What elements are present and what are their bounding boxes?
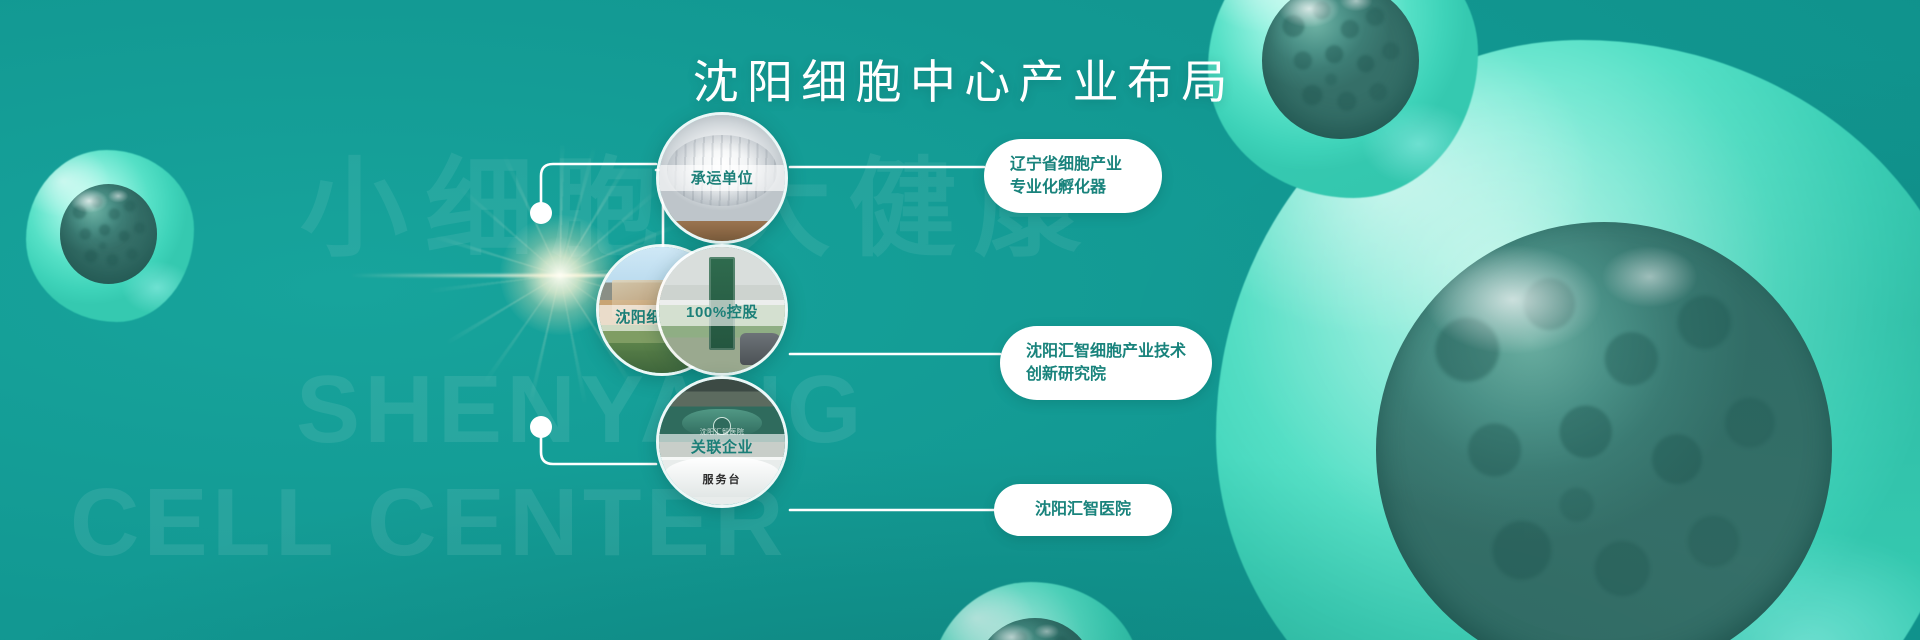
banner-root: 小细胞 大健康 SHENYANG CELL CENTER 沈阳细胞中心产业布局 — [0, 0, 1920, 640]
pill-label-incubator[interactable]: 辽宁省细胞产业 专业化孵化器 — [984, 139, 1162, 213]
node-carrier[interactable]: 承运单位 — [656, 112, 788, 244]
page-title: 沈阳细胞中心产业布局 — [0, 46, 1920, 112]
node-carrier-label: 承运单位 — [659, 165, 785, 191]
pill-label-institute[interactable]: 沈阳汇智细胞产业技术 创新研究院 — [1000, 326, 1212, 400]
node-holding[interactable]: 100%控股 — [656, 244, 788, 376]
node-affiliate-caption: 服务台 — [659, 471, 785, 487]
node-holding-label: 100%控股 — [659, 300, 785, 326]
node-affiliate[interactable]: 沈阳汇智医院 关联企业 服务台 — [656, 376, 788, 508]
node-affiliate-label: 关联企业 — [659, 434, 785, 460]
pill-label-hospital[interactable]: 沈阳汇智医院 — [994, 484, 1172, 536]
